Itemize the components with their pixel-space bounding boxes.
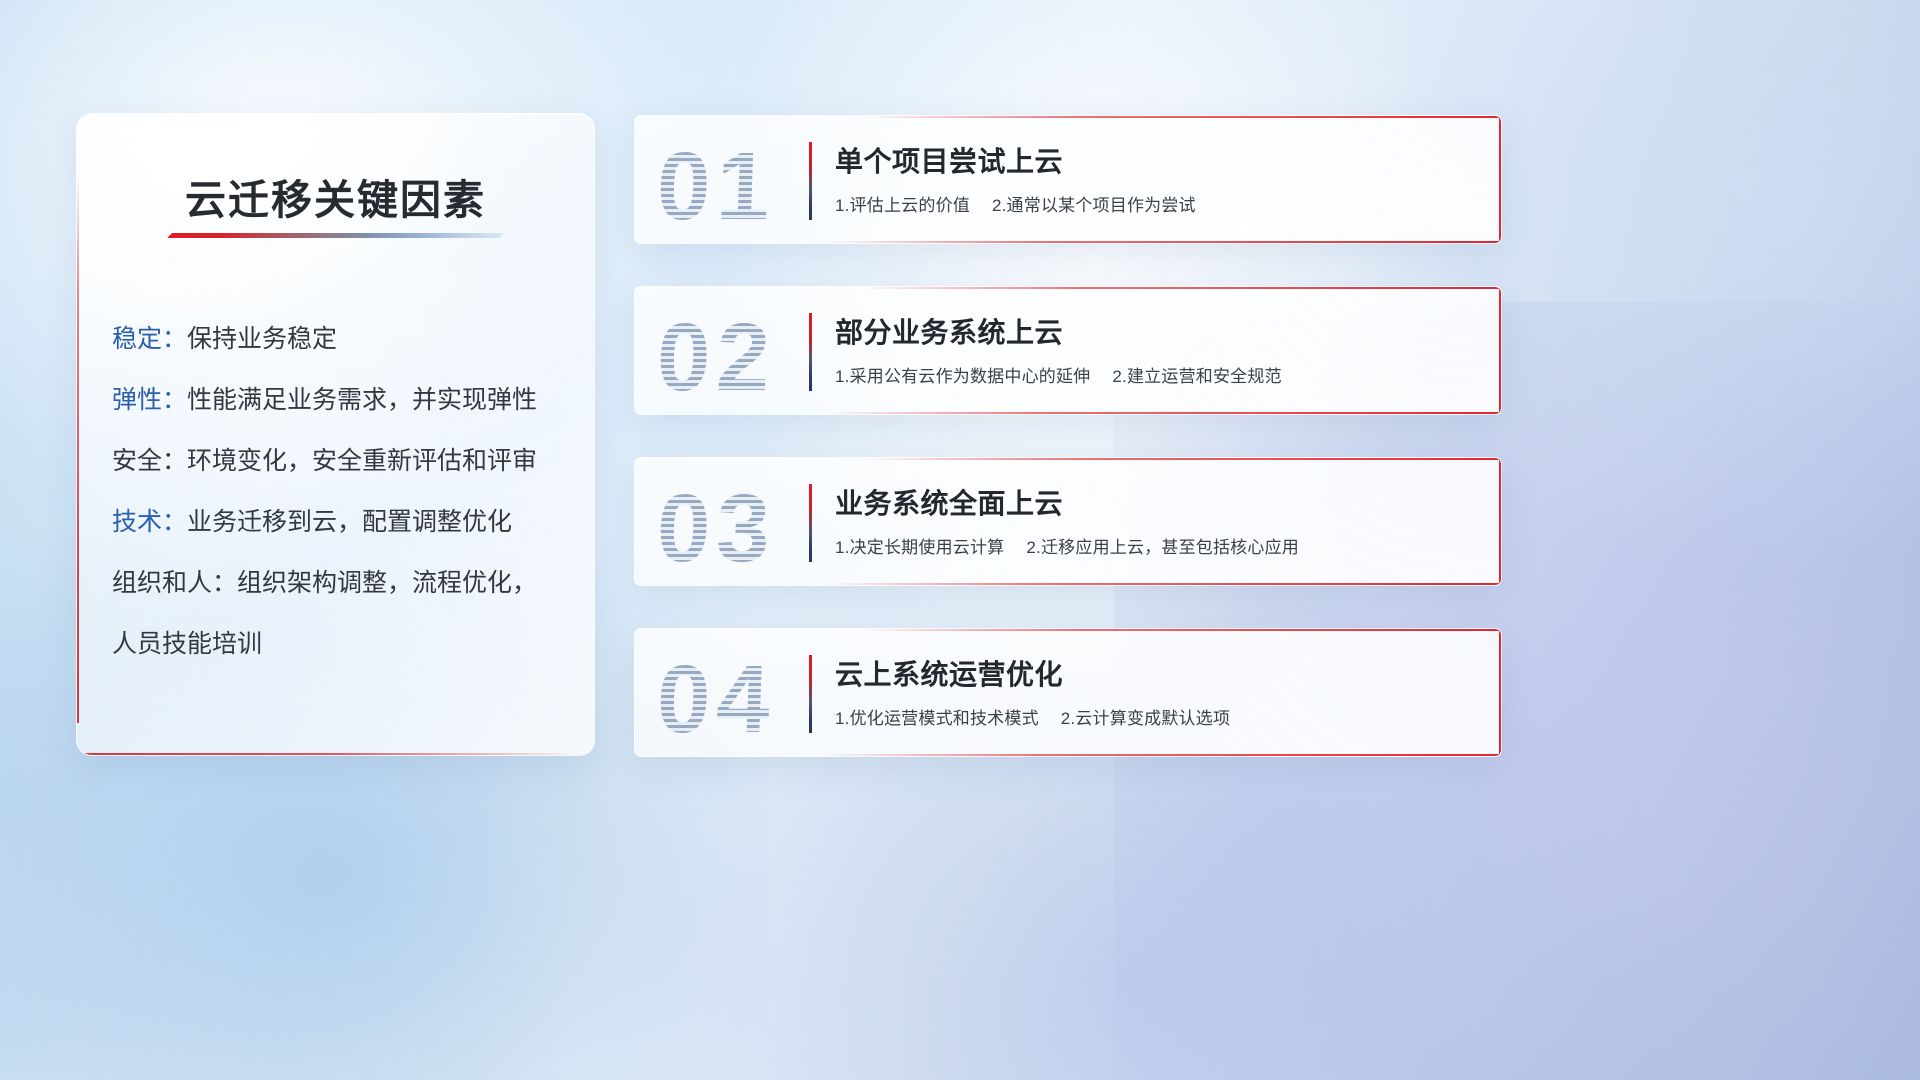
list-item: 组织和人：组织架构调整，流程优化， xyxy=(112,553,582,614)
card-point-1: 1.决定长期使用云计算 xyxy=(835,538,1004,557)
card-top-accent-line xyxy=(860,287,1501,289)
list-item-label: 弹性： xyxy=(112,386,187,414)
step-card-03[interactable]: 03 03 业务系统全面上云 1.决定长期使用云计算2.迁移应用上云，甚至包括核… xyxy=(634,457,1502,586)
card-point-2: 2.通常以某个项目作为尝试 xyxy=(992,196,1196,215)
card-description: 1.优化运营模式和技术模式2.云计算变成默认选项 xyxy=(835,704,1230,729)
list-item: 安全：环境变化，安全重新评估和评审 xyxy=(112,431,582,492)
card-divider-bar xyxy=(809,655,812,733)
step-number-watermark: 04 xyxy=(655,635,778,757)
card-top-accent-line xyxy=(860,458,1501,460)
step-number-watermark: 03 xyxy=(655,464,778,586)
step-number-watermark: 01 xyxy=(655,122,778,244)
step-number-watermark: 02 xyxy=(655,293,778,415)
card-top-accent-line xyxy=(860,629,1501,631)
card-bottom-accent-line xyxy=(826,241,1501,243)
card-divider-bar xyxy=(809,142,812,220)
card-title: 部分业务系统上云 xyxy=(835,311,1063,351)
list-item-label: 技术： xyxy=(112,508,187,536)
list-item-text: 组织架构调整，流程优化， xyxy=(237,569,537,597)
card-right-accent-line xyxy=(1499,629,1501,756)
card-point-1: 1.优化运营模式和技术模式 xyxy=(835,709,1039,728)
card-bottom-accent-line xyxy=(826,754,1501,756)
panel-left-accent-line xyxy=(77,172,79,723)
card-right-accent-line xyxy=(1499,116,1501,243)
step-card-01[interactable]: 01 01 单个项目尝试上云 1.评估上云的价值2.通常以某个项目作为尝试 xyxy=(634,115,1502,244)
list-item: 技术：业务迁移到云，配置调整优化 xyxy=(112,492,582,553)
list-item-label: 安全： xyxy=(112,447,187,475)
card-right-accent-line xyxy=(1499,287,1501,414)
card-divider-bar xyxy=(809,484,812,562)
list-item-text: 人员技能培训 xyxy=(112,630,262,658)
step-card-02[interactable]: 02 02 部分业务系统上云 1.采用公有云作为数据中心的延伸2.建立运营和安全… xyxy=(634,286,1502,415)
list-item-text: 环境变化，安全重新评估和评审 xyxy=(187,447,537,475)
card-right-accent-line xyxy=(1499,458,1501,585)
key-factors-panel: 云迁移关键因素 稳定：保持业务稳定 弹性：性能满足业务需求，并实现弹性 安全：环… xyxy=(76,113,595,756)
list-item-text: 保持业务稳定 xyxy=(187,325,337,353)
card-title: 单个项目尝试上云 xyxy=(835,140,1063,180)
card-description: 1.采用公有云作为数据中心的延伸2.建立运营和安全规范 xyxy=(835,362,1282,387)
title-underline-gradient xyxy=(167,233,504,238)
list-item-text: 业务迁移到云，配置调整优化 xyxy=(187,508,512,536)
card-bottom-accent-line xyxy=(826,583,1501,585)
step-card-04[interactable]: 04 04 云上系统运营优化 1.优化运营模式和技术模式2.云计算变成默认选项 xyxy=(634,628,1502,757)
list-item-text: 性能满足业务需求，并实现弹性 xyxy=(187,386,537,414)
page-title: 云迁移关键因素 xyxy=(77,166,594,226)
card-description: 1.评估上云的价值2.通常以某个项目作为尝试 xyxy=(835,191,1196,216)
card-point-1: 1.评估上云的价值 xyxy=(835,196,970,215)
key-factors-list: 稳定：保持业务稳定 弹性：性能满足业务需求，并实现弹性 安全：环境变化，安全重新… xyxy=(112,309,582,675)
card-description: 1.决定长期使用云计算2.迁移应用上云，甚至包括核心应用 xyxy=(835,533,1299,558)
card-bottom-accent-line xyxy=(826,412,1501,414)
card-point-2: 2.建立运营和安全规范 xyxy=(1112,367,1281,386)
list-item-label: 稳定： xyxy=(112,325,187,353)
card-point-2: 2.迁移应用上云，甚至包括核心应用 xyxy=(1026,538,1299,557)
card-point-1: 1.采用公有云作为数据中心的延伸 xyxy=(835,367,1090,386)
list-item: 弹性：性能满足业务需求，并实现弹性 xyxy=(112,370,582,431)
card-title: 业务系统全面上云 xyxy=(835,482,1063,522)
card-title: 云上系统运营优化 xyxy=(835,653,1063,693)
card-point-2: 2.云计算变成默认选项 xyxy=(1061,709,1230,728)
list-item-label: 组织和人： xyxy=(112,569,237,597)
card-divider-bar xyxy=(809,313,812,391)
card-top-accent-line xyxy=(860,116,1501,118)
list-item: 稳定：保持业务稳定 xyxy=(112,309,582,370)
list-item-continuation: 人员技能培训 xyxy=(112,614,582,675)
panel-bottom-accent-line xyxy=(77,753,594,755)
